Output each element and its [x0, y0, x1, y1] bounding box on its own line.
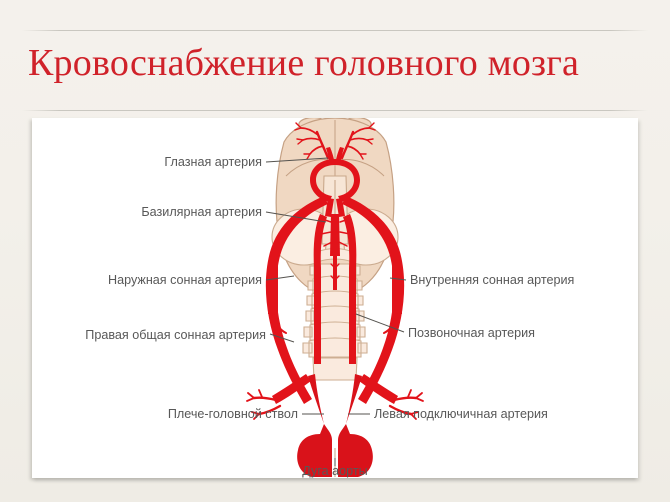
- label-basilar-artery: Базилярная артерия: [141, 205, 262, 219]
- figure-panel: Глазная артерия Базилярная артерия Наруж…: [32, 118, 638, 478]
- anatomy-illustration: [247, 118, 423, 477]
- page-title: Кровоснабжение головного мозга: [28, 40, 648, 86]
- label-internal-carotid-artery: Внутренняя сонная артерия: [410, 273, 574, 287]
- divider-top: [22, 30, 648, 31]
- label-right-common-carotid: Правая общая сонная артерия: [85, 328, 266, 342]
- label-left-subclavian-artery: Левая подключичная артерия: [374, 407, 548, 421]
- label-aortic-arch: Дуга аорты: [302, 464, 367, 478]
- label-external-carotid-artery: Наружная сонная артерия: [108, 273, 262, 287]
- label-vertebral-artery: Позвоночная артерия: [408, 326, 535, 340]
- brain-blood-supply-diagram: Глазная артерия Базилярная артерия Наруж…: [32, 118, 638, 478]
- label-brachiocephalic-trunk: Плече-головной ствол: [168, 407, 298, 421]
- divider-bottom: [22, 110, 648, 111]
- slide-background: Кровоснабжение головного мозга: [0, 0, 670, 502]
- label-ophthalmic-artery: Глазная артерия: [164, 155, 262, 169]
